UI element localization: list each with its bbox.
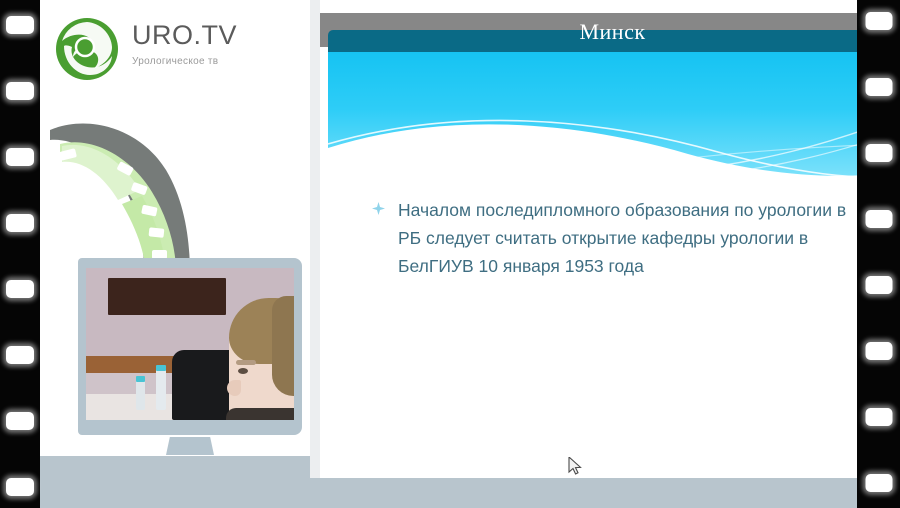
film-sprocket-icon [6, 280, 34, 298]
slide-title: Минск [328, 17, 897, 47]
film-sprocket-icon [6, 412, 34, 430]
bottle-cap [136, 376, 145, 382]
uro-swirl-logo-icon [54, 16, 120, 82]
film-sprocket-strip-left [0, 0, 40, 508]
mouse-pointer-icon [568, 457, 582, 475]
film-sprocket-icon [865, 342, 892, 360]
slide-header-banner [328, 52, 897, 180]
film-sprocket-strip-right [857, 0, 900, 508]
film-sprocket-icon [865, 210, 892, 228]
person-nose [227, 380, 241, 396]
film-sprocket-icon [6, 16, 34, 34]
film-sprocket-icon [865, 78, 892, 96]
slide-area: Минск [310, 0, 897, 478]
film-reel-icon [48, 108, 228, 278]
brand-subtitle: Урологическое тв [132, 56, 237, 67]
left-sidebar: URO.TV Урологическое тв [40, 0, 268, 508]
person-eye [238, 368, 248, 374]
bottom-bar [0, 478, 900, 508]
film-sprocket-icon [6, 214, 34, 232]
brand-title: URO.TV [132, 22, 237, 49]
video-monitor[interactable] [78, 258, 302, 473]
film-sprocket-icon [865, 12, 892, 30]
brand-logo[interactable]: URO.TV Урологическое тв [54, 14, 269, 92]
person-shoulder [226, 408, 294, 420]
film-sprocket-icon [6, 82, 34, 100]
film-sprocket-icon [6, 148, 34, 166]
bottle-cap [156, 365, 166, 371]
monitor-stand-neck [166, 437, 214, 455]
banner-wave-graphic [328, 52, 897, 180]
brand-text-block: URO.TV Урологическое тв [132, 22, 237, 67]
person-hair-back [272, 296, 294, 396]
film-sprocket-icon [865, 408, 892, 426]
person-brow [236, 360, 256, 365]
film-sprocket-icon [6, 478, 34, 496]
film-sprocket-icon [865, 144, 892, 162]
page-background: URO.TV Урологическое тв [40, 0, 857, 508]
water-bottle [156, 368, 166, 410]
slide-body-text: Началом последипломного образования по у… [398, 196, 868, 280]
presentation-video-thumbnail[interactable] [86, 268, 294, 420]
film-sprocket-icon [6, 346, 34, 364]
wall-board [108, 278, 226, 315]
water-bottle [136, 378, 145, 410]
star-bullet-icon [372, 202, 385, 215]
video-player-stage: URO.TV Урологическое тв [0, 0, 900, 508]
film-sprocket-icon [865, 474, 892, 492]
film-sprocket-icon [865, 276, 892, 294]
